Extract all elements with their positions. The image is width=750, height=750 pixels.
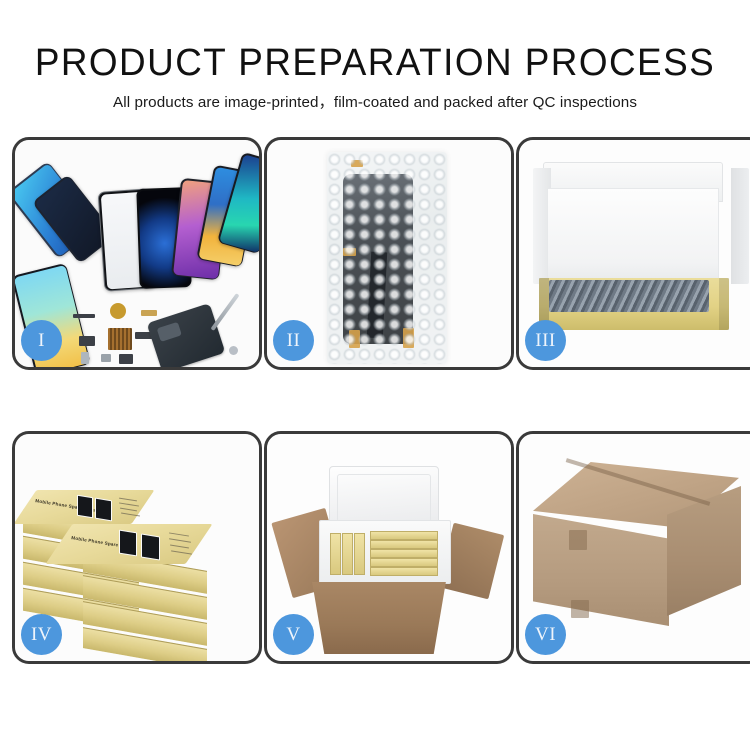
product-preparation-infographic: PRODUCT PREPARATION PROCESS All products… — [0, 0, 750, 750]
yellow-box-8 — [370, 567, 438, 576]
step-panel-4: Mobile Phone Spare Parts Mobile Phone Sp… — [12, 431, 262, 664]
step-numeral-3: III — [535, 331, 555, 350]
camera-part-icon — [81, 352, 89, 364]
small-screw-icon — [229, 346, 238, 355]
step-badge-5: V — [273, 614, 314, 655]
step-numeral-5: V — [286, 625, 300, 644]
yellow-box-1 — [330, 533, 341, 575]
step-badge-4: IV — [21, 614, 62, 655]
carton-tab-lower-icon — [571, 600, 589, 618]
step-badge-6: VI — [525, 614, 566, 655]
top-box-rear-icon: Mobile Phone Spare Parts — [25, 490, 143, 524]
white-foam-sheet-icon — [547, 188, 719, 288]
carton-body-icon — [303, 582, 455, 654]
header: PRODUCT PREPARATION PROCESS All products… — [0, 0, 750, 113]
speaker-part-icon — [110, 303, 126, 319]
yellow-box-2 — [342, 533, 353, 575]
box-window-rear-2 — [95, 498, 112, 522]
antenna-part-icon — [73, 314, 95, 318]
page-subtitle: All products are image-printed，film-coat… — [0, 84, 750, 113]
bubble-wrap-bag-icon — [327, 152, 447, 364]
yellow-box-5 — [370, 540, 438, 549]
process-steps-grid: I II — [12, 137, 738, 697]
bracket-part-icon — [79, 336, 95, 346]
bubble-wrapped-contents-icon — [549, 280, 709, 312]
box-window-front-1 — [119, 530, 137, 557]
step-panel-2: II — [264, 137, 514, 370]
screwdriver-icon — [210, 293, 239, 331]
step-badge-1: I — [21, 320, 62, 361]
step-panel-1: I — [12, 137, 262, 370]
connector-part-icon — [141, 310, 157, 316]
yellow-box-3 — [354, 533, 365, 575]
phone-back-housing-icon — [147, 303, 226, 367]
box-flap-right-icon — [731, 168, 749, 284]
yellow-box-6 — [370, 549, 438, 558]
yellow-box-4 — [370, 531, 438, 540]
top-box-front-icon: Mobile Phone Spare Parts — [59, 524, 199, 564]
yellow-box-7 — [370, 558, 438, 567]
step-badge-3: III — [525, 320, 566, 361]
step-numeral-6: VI — [535, 625, 556, 644]
page-title: PRODUCT PREPARATION PROCESS — [11, 0, 739, 84]
step-numeral-4: IV — [31, 625, 52, 644]
box-window-front-2 — [141, 533, 160, 560]
box-window-rear-1 — [77, 495, 93, 519]
step-panel-6: VI — [516, 431, 750, 664]
step-numeral-1: I — [38, 331, 45, 350]
step-panel-5: V — [264, 431, 514, 664]
button-part-icon — [119, 354, 133, 364]
chip-grid-part-icon — [108, 328, 132, 350]
step-numeral-2: II — [287, 331, 301, 350]
foam-case-icon — [319, 520, 451, 584]
screw-part-icon — [101, 354, 111, 362]
step-panel-3: III — [516, 137, 750, 370]
step-badge-2: II — [273, 320, 314, 361]
carton-tab-upper-icon — [569, 530, 587, 550]
bubble-texture-icon — [327, 152, 447, 364]
carton-front-face-icon — [533, 514, 669, 626]
